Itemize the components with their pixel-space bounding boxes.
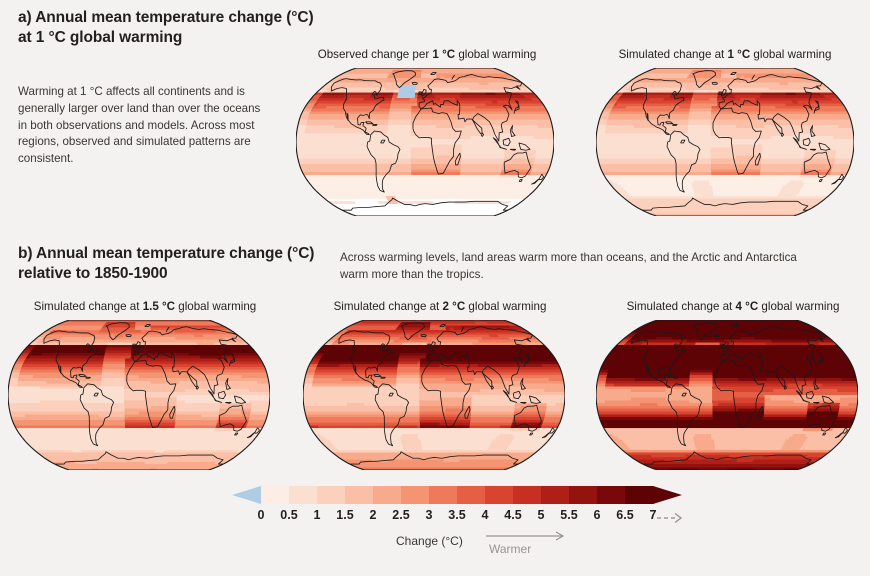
colorbar-band (373, 486, 402, 504)
panel-a-description: Warming at 1 °C affects all continents a… (18, 84, 268, 168)
map-observed-1c (296, 68, 554, 216)
map-simulated-2c (303, 320, 565, 470)
colorbar-band (513, 486, 542, 504)
colorbar-tick-4: 4 (482, 508, 489, 522)
map-title-simulated-2c: Simulated change at 2 °C global warming (305, 300, 575, 313)
map-title-value: 4 °C (736, 300, 759, 313)
colorbar-above-range-arrow (653, 486, 682, 504)
map-title-pre: Simulated change at (619, 48, 728, 61)
map-simulated-4c (596, 320, 858, 470)
world-map-svg (296, 68, 554, 216)
world-map-svg (596, 320, 858, 470)
world-map-svg (596, 68, 854, 216)
colorbar-tick-4-5: 4.5 (504, 508, 521, 522)
map-title-value: 1 °C (728, 48, 751, 61)
colorbar-band (429, 486, 458, 504)
panel-a-heading-line2: at 1 °C global warming (18, 28, 348, 48)
colorbar-tick-1: 1 (314, 508, 321, 522)
colorbar-band (401, 486, 430, 504)
panel-b-heading: b) Annual mean temperature change (°C) r… (18, 244, 358, 285)
map-title-simulated-15c: Simulated change at 1.5 °C global warmin… (10, 300, 280, 313)
colorbar-tick-1-5: 1.5 (336, 508, 353, 522)
colorbar-direction-label: Warmer (489, 542, 531, 556)
figure-root: a) Annual mean temperature change (°C) a… (0, 0, 870, 576)
panel-b-heading-line1: b) Annual mean temperature change (°C) (18, 244, 358, 264)
world-map-svg (303, 320, 565, 470)
map-title-pre: Simulated change at (627, 300, 736, 313)
colorbar-band (261, 486, 290, 504)
map-title-post: global warming (465, 300, 546, 313)
map-title-pre: Simulated change at (334, 300, 443, 313)
colorbar-below-range-arrow (232, 486, 261, 504)
colorbar-tick-labels: 00.511.522.533.544.555.566.57 (0, 508, 870, 526)
colorbar-tick-0-5: 0.5 (280, 508, 297, 522)
colorbar-tick-5-5: 5.5 (560, 508, 577, 522)
colorbar-tick-6: 6 (594, 508, 601, 522)
map-title-pre: Simulated change at (34, 300, 143, 313)
colorbar-tick-2-5: 2.5 (392, 508, 409, 522)
warmer-arrow-icon (484, 530, 570, 542)
colorbar-band (317, 486, 346, 504)
panel-a-heading-line1: a) Annual mean temperature change (°C) (18, 8, 348, 28)
map-title-value: 2 °C (443, 300, 466, 313)
colorbar-overflow-arrow-icon (656, 511, 690, 525)
colorbar: 00.511.522.533.544.555.566.57 Change (°C… (0, 478, 870, 576)
colorbar-band (541, 486, 570, 504)
map-title-post: global warming (175, 300, 256, 313)
colorbar-tick-0: 0 (258, 508, 265, 522)
map-simulated-15c (8, 320, 270, 470)
colorbar-band (485, 486, 514, 504)
map-title-observed-1c: Observed change per 1 °C global warming (302, 48, 552, 61)
map-title-value: 1 °C (432, 48, 455, 61)
map-title-simulated-1c: Simulated change at 1 °C global warming (600, 48, 850, 61)
panel-b-description: Across warming levels, land areas warm m… (340, 250, 820, 284)
colorbar-band (597, 486, 626, 504)
colorbar-axis-label: Change (°C) (396, 534, 463, 548)
colorbar-band (457, 486, 486, 504)
colorbar-tick-3: 3 (426, 508, 433, 522)
map-title-value: 1.5 °C (143, 300, 175, 313)
map-simulated-1c (596, 68, 854, 216)
colorbar-band (289, 486, 318, 504)
colorbar-tick-5: 5 (538, 508, 545, 522)
world-map-svg (8, 320, 270, 470)
map-title-simulated-4c: Simulated change at 4 °C global warming (598, 300, 868, 313)
panel-a-heading: a) Annual mean temperature change (°C) a… (18, 8, 348, 49)
map-title-post: global warming (750, 48, 831, 61)
colorbar-tick-3-5: 3.5 (448, 508, 465, 522)
colorbar-tick-6-5: 6.5 (616, 508, 633, 522)
colorbar-band (345, 486, 374, 504)
panel-b-heading-line2: relative to 1850-1900 (18, 264, 358, 284)
colorbar-tick-2: 2 (370, 508, 377, 522)
map-title-pre: Observed change per (318, 48, 433, 61)
colorbar-band (625, 486, 654, 504)
map-title-post: global warming (455, 48, 536, 61)
colorbar-band (569, 486, 598, 504)
map-title-post: global warming (758, 300, 839, 313)
colorbar-gradient (0, 478, 870, 508)
